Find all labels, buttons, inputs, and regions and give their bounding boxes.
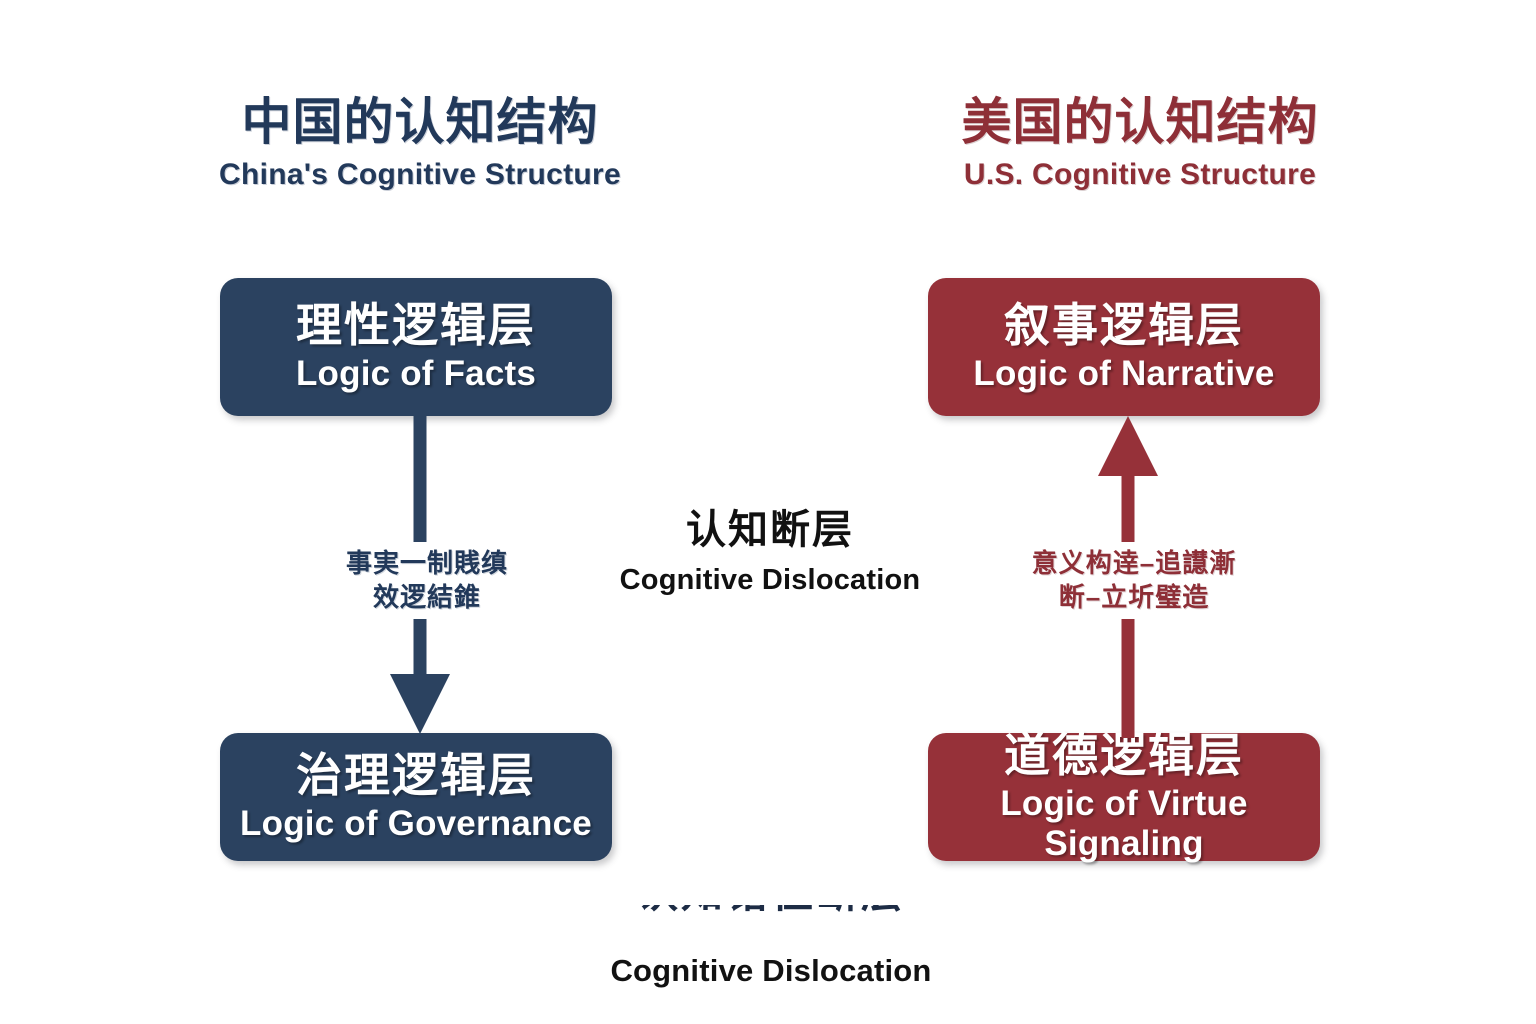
center-dislocation-en: Cognitive Dislocation <box>600 564 940 597</box>
node-logic-of-virtue-signaling-en: Logic of Virtue Signaling <box>942 784 1306 865</box>
node-logic-of-facts: 理性逻辑层 Logic of Facts <box>220 278 612 416</box>
edge-label-us: 意义构逹–追譿漸 断–立圻璧造 <box>978 542 1290 619</box>
node-logic-of-facts-en: Logic of Facts <box>296 354 536 394</box>
node-logic-of-virtue-signaling: 道德逻辑层 Logic of Virtue Signaling <box>928 733 1320 861</box>
node-logic-of-narrative: 叙事逻辑层 Logic of Narrative <box>928 278 1320 416</box>
center-dislocation-label: 认知断层 Cognitive Dislocation <box>600 508 940 597</box>
node-logic-of-governance-cn: 治理逻辑层 <box>296 750 536 802</box>
us-heading-en: U.S. Cognitive Structure <box>840 159 1440 191</box>
node-logic-of-governance-en: Logic of Governance <box>240 804 592 844</box>
china-heading-en: China's Cognitive Structure <box>120 159 720 191</box>
center-dislocation-cn: 认知断层 <box>600 508 940 552</box>
node-logic-of-narrative-cn: 叙事逻辑层 <box>1004 300 1244 352</box>
bottom-caption-en: Cognitive Dislocation <box>556 953 986 989</box>
diagram-canvas: 中国的认知结构 China's Cognitive Structure 美国的认… <box>0 0 1536 1024</box>
us-column-heading: 美国的认知结构 U.S. Cognitive Structure <box>840 96 1440 190</box>
edge-label-us-line2: 断–立圻璧造 <box>984 580 1284 614</box>
us-heading-cn: 美国的认知结构 <box>840 96 1440 149</box>
node-logic-of-governance: 治理逻辑层 Logic of Governance <box>220 733 612 861</box>
bottom-caption: 认知错位断层 Cognitive Dislocation <box>556 905 986 989</box>
china-column-heading: 中国的认知结构 China's Cognitive Structure <box>120 96 720 190</box>
edge-label-china-line1: 事実一制賎缜 <box>296 546 558 580</box>
edge-label-us-line1: 意义构逹–追譿漸 <box>984 546 1284 580</box>
china-heading-cn: 中国的认知结构 <box>120 96 720 149</box>
edge-label-china: 事実一制賎缜 效逻結錐 <box>290 542 564 619</box>
node-logic-of-facts-cn: 理性逻辑层 <box>296 300 536 352</box>
bottom-caption-cn-clipped: 认知错位断层 <box>556 905 986 939</box>
edge-label-china-line2: 效逻結錐 <box>296 580 558 614</box>
node-logic-of-narrative-en: Logic of Narrative <box>973 354 1274 394</box>
bottom-caption-cn-text: 认知错位断层 <box>556 905 986 915</box>
